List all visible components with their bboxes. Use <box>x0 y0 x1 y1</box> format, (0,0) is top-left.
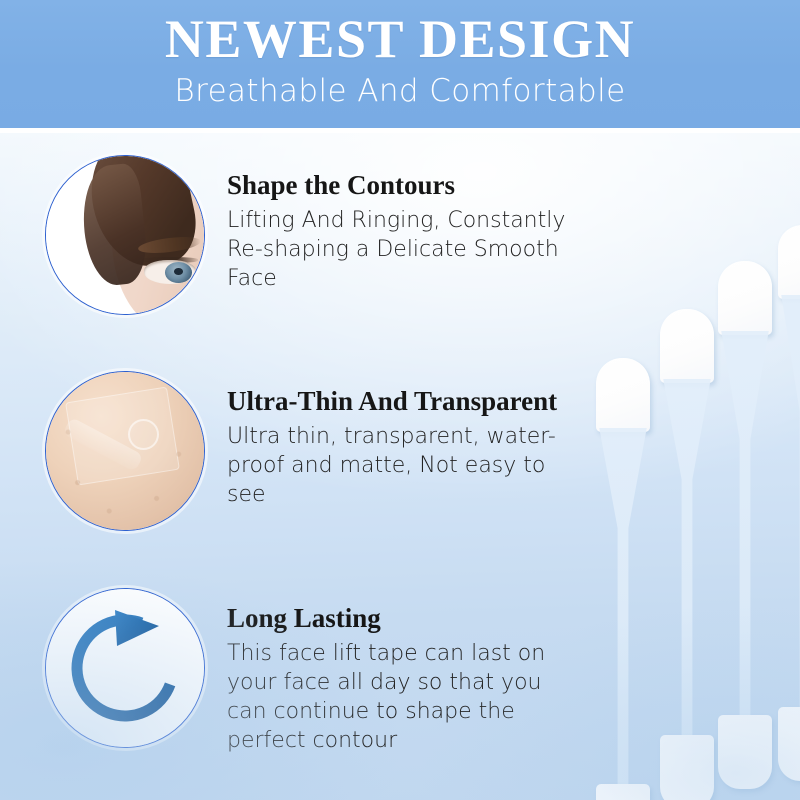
tape-strip <box>596 358 650 800</box>
tape-strip-top-pad <box>778 225 800 299</box>
refresh-cycle-icon <box>46 589 204 747</box>
page-subtitle: Breathable And Comfortable <box>0 70 800 110</box>
tape-strip-bottom-pad <box>660 735 714 800</box>
content-area: Shape the Contours Lifting And Ringing, … <box>0 133 800 800</box>
feature-title: Shape the Contours <box>227 169 572 202</box>
feature-description: Lifting And Ringing, Constantly Re-shapi… <box>227 206 572 293</box>
tape-strip <box>778 225 800 781</box>
tape-strip-top-pad <box>660 309 714 383</box>
eye-shape <box>144 260 196 284</box>
circular-arrow-icon <box>45 588 205 748</box>
tape-strip-stem <box>596 428 650 786</box>
header-banner: NEWEST DESIGN Breathable And Comfortable <box>0 0 800 128</box>
product-strips-group <box>588 133 800 800</box>
tape-strip-top-pad <box>718 261 772 335</box>
feature-description: This face lift tape can last on your fac… <box>227 639 572 755</box>
face-eye-photo-icon <box>45 155 205 315</box>
feature-title: Ultra-Thin And Transparent <box>227 385 572 418</box>
tape-strip-bottom-pad <box>718 715 772 789</box>
product-feature-poster: NEWEST DESIGN Breathable And Comfortable <box>0 0 800 800</box>
skin-texture-overlay <box>46 372 204 530</box>
feature-title: Long Lasting <box>227 602 572 635</box>
tape-strip-top-pad <box>596 358 650 432</box>
feature-text-block: Long Lasting This face lift tape can las… <box>227 588 572 755</box>
tape-strip-stem <box>660 379 714 737</box>
skin-closeup-photo <box>46 372 204 530</box>
page-title: NEWEST DESIGN <box>0 0 800 70</box>
feature-text-block: Ultra-Thin And Transparent Ultra thin, t… <box>227 371 572 509</box>
face-eye-photo <box>46 156 204 314</box>
tape-strip-stem <box>718 331 772 717</box>
tape-strip <box>718 261 772 789</box>
skin-closeup-photo-icon <box>45 371 205 531</box>
tape-strip-stem <box>778 295 800 709</box>
feature-description: Ultra thin, transparent, water-proof and… <box>227 422 572 509</box>
iris-shape <box>165 262 192 283</box>
tape-strip-bottom-pad <box>778 707 800 781</box>
tape-strip-bottom-pad <box>596 784 650 800</box>
feature-text-block: Shape the Contours Lifting And Ringing, … <box>227 155 572 293</box>
tape-strip <box>660 309 714 800</box>
